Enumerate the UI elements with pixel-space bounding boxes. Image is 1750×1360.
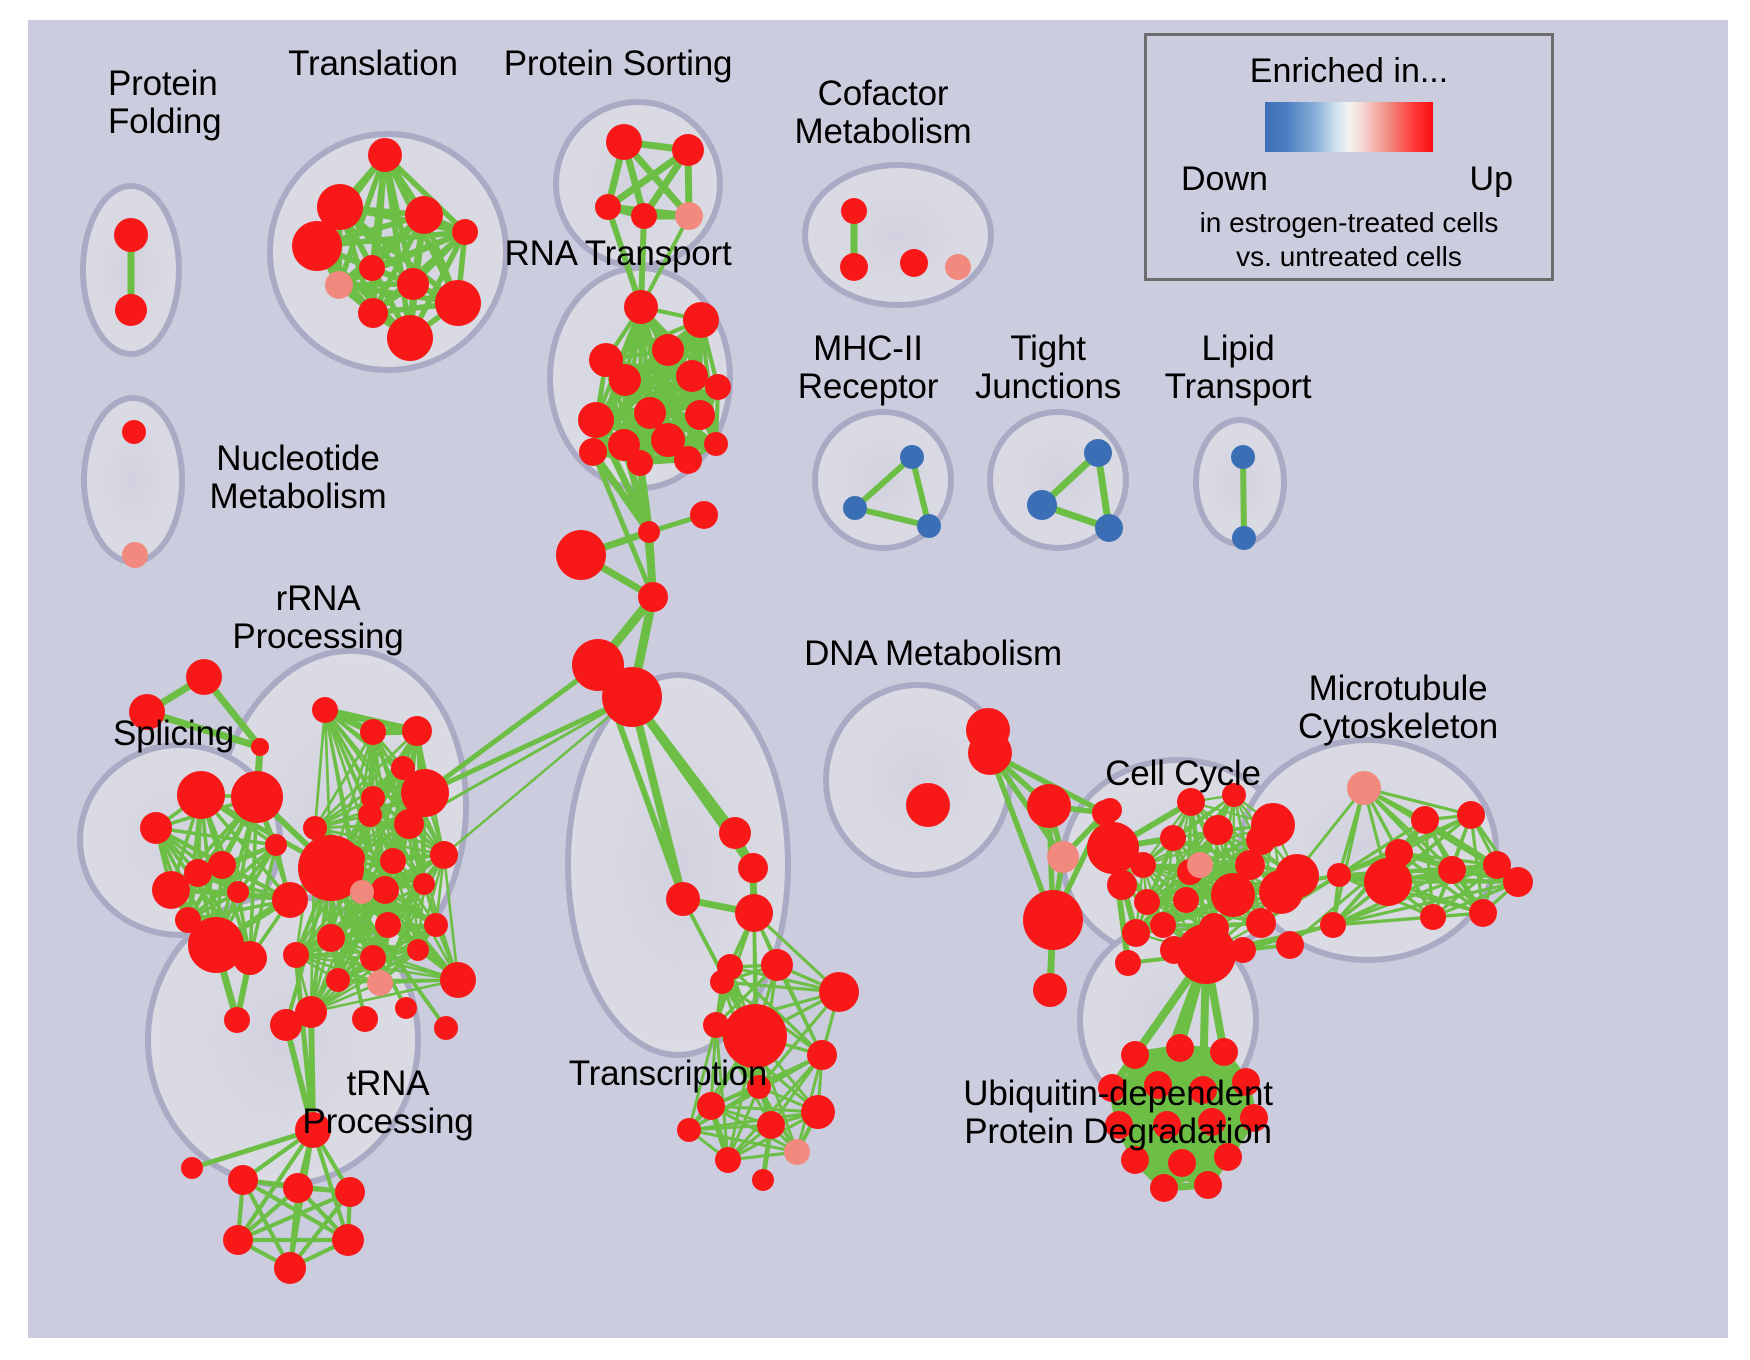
network-node[interactable] (666, 882, 700, 916)
network-node[interactable] (405, 196, 443, 234)
network-node[interactable] (917, 514, 941, 538)
network-node[interactable] (114, 218, 148, 252)
network-node[interactable] (843, 496, 867, 520)
network-node[interactable] (292, 221, 342, 271)
cluster-label-trna-processing: tRNA Processing (302, 1065, 473, 1141)
cluster-label-tight-junctions: Tight Junctions (975, 330, 1121, 406)
network-node[interactable] (1160, 825, 1186, 851)
network-node[interactable] (900, 249, 928, 277)
network-node[interactable] (1027, 490, 1057, 520)
network-node[interactable] (387, 315, 433, 361)
network-node[interactable] (1203, 815, 1233, 845)
network-node[interactable] (1327, 863, 1351, 887)
network-edge (1243, 457, 1244, 538)
network-node[interactable] (1347, 771, 1381, 805)
network-node[interactable] (627, 450, 653, 476)
network-node[interactable] (1168, 1149, 1196, 1177)
cluster-label-mhc-ii-receptor: MHC-II Receptor (798, 330, 938, 406)
cluster-label-translation: Translation (288, 45, 458, 83)
network-node[interactable] (424, 913, 448, 937)
cluster-label-ubiquitin-degradation: Ubiquitin-dependent Protein Degradation (963, 1075, 1273, 1151)
network-node[interactable] (638, 521, 660, 543)
network-node[interactable] (704, 432, 728, 456)
network-node[interactable] (715, 1147, 741, 1173)
cluster-label-rna-transport: RNA Transport (505, 235, 732, 273)
network-node[interactable] (945, 254, 971, 280)
network-node[interactable] (434, 1016, 458, 1040)
network-node[interactable] (1211, 873, 1255, 917)
network-node[interactable] (181, 1157, 203, 1179)
network-node[interactable] (578, 402, 614, 438)
legend-title: Enriched in... (1147, 52, 1551, 91)
network-node[interactable] (251, 738, 269, 756)
network-node[interactable] (1259, 870, 1303, 914)
legend-subtitle: in estrogen-treated cellsvs. untreated c… (1147, 206, 1551, 274)
network-node[interactable] (906, 783, 950, 827)
network-node[interactable] (840, 253, 868, 281)
network-node[interactable] (683, 302, 719, 338)
network-node[interactable] (1457, 801, 1485, 829)
network-node[interactable] (705, 374, 731, 400)
network-node[interactable] (274, 1252, 306, 1284)
network-node[interactable] (761, 949, 793, 981)
network-node[interactable] (1364, 858, 1412, 906)
network-node[interactable] (175, 907, 201, 933)
network-node[interactable] (674, 446, 702, 474)
network-node[interactable] (1150, 1174, 1178, 1202)
legend-down-label: Down (1181, 160, 1268, 199)
network-node[interactable] (270, 1009, 302, 1041)
network-node[interactable] (283, 1173, 313, 1203)
network-node[interactable] (624, 290, 658, 324)
network-node[interactable] (1160, 936, 1188, 964)
cluster-hull (805, 165, 991, 305)
cluster-label-nucleotide-metabolism: Nucleotide Metabolism (210, 440, 387, 516)
figure-root: Protein FoldingTranslationProtein Sortin… (0, 0, 1750, 1360)
network-node[interactable] (631, 203, 657, 229)
network-node[interactable] (1320, 912, 1346, 938)
cluster-label-protein-sorting: Protein Sorting (504, 45, 733, 83)
network-node[interactable] (395, 997, 417, 1019)
network-node[interactable] (801, 1095, 835, 1129)
network-node[interactable] (375, 912, 401, 938)
network-node[interactable] (676, 360, 708, 392)
network-node[interactable] (440, 962, 476, 998)
cluster-hull (1196, 420, 1284, 544)
network-node[interactable] (1107, 870, 1137, 900)
network-node[interactable] (223, 1225, 253, 1255)
network-node[interactable] (1023, 890, 1083, 950)
network-node[interactable] (1166, 1034, 1194, 1062)
network-node[interactable] (1150, 912, 1176, 938)
network-node[interactable] (177, 771, 225, 819)
network-node[interactable] (402, 716, 432, 746)
network-node[interactable] (452, 219, 478, 245)
legend-sub-line1: in estrogen-treated cells (1200, 207, 1499, 238)
network-node[interactable] (224, 1007, 250, 1033)
network-node[interactable] (1115, 950, 1141, 976)
network-node[interactable] (303, 816, 327, 840)
network-node[interactable] (332, 1224, 364, 1256)
network-node[interactable] (1276, 931, 1304, 959)
network-node[interactable] (634, 397, 666, 429)
network-node[interactable] (1232, 526, 1256, 550)
network-node[interactable] (1033, 973, 1067, 1007)
network-node[interactable] (609, 364, 641, 396)
network-node[interactable] (1095, 514, 1123, 542)
cluster-label-cell-cycle: Cell Cycle (1105, 755, 1261, 793)
network-node[interactable] (672, 134, 704, 166)
network-node[interactable] (735, 894, 773, 932)
network-node[interactable] (900, 445, 924, 469)
network-node[interactable] (115, 294, 147, 326)
network-node[interactable] (752, 1169, 774, 1191)
network-node[interactable] (1187, 852, 1213, 878)
network-node[interactable] (227, 881, 249, 903)
network-node[interactable] (122, 542, 148, 568)
network-node[interactable] (367, 970, 393, 996)
network-canvas: Protein FoldingTranslationProtein Sortin… (28, 20, 1728, 1338)
network-node[interactable] (1173, 887, 1199, 913)
network-node[interactable] (283, 942, 309, 968)
legend-color-gradient-bar (1265, 102, 1433, 152)
network-node[interactable] (350, 880, 374, 904)
network-node[interactable] (1047, 841, 1079, 873)
network-node[interactable] (1130, 852, 1156, 878)
network-node[interactable] (1210, 1038, 1238, 1066)
cluster-label-lipid-transport: Lipid Transport (1165, 330, 1312, 406)
network-node[interactable] (152, 871, 190, 909)
network-node[interactable] (265, 834, 287, 856)
network-node[interactable] (606, 124, 642, 160)
network-node[interactable] (1246, 825, 1276, 855)
network-node[interactable] (371, 876, 399, 904)
network-node[interactable] (841, 198, 867, 224)
network-node[interactable] (1134, 889, 1160, 915)
network-node[interactable] (719, 817, 751, 849)
network-node[interactable] (556, 530, 606, 580)
network-node[interactable] (1411, 806, 1439, 834)
network-node[interactable] (325, 271, 353, 299)
network-node[interactable] (359, 255, 385, 281)
network-node[interactable] (317, 924, 345, 952)
network-node[interactable] (272, 882, 308, 918)
network-node[interactable] (697, 1092, 725, 1120)
cluster-label-splicing: Splicing (113, 715, 234, 753)
network-node[interactable] (360, 945, 386, 971)
network-node[interactable] (1194, 1171, 1222, 1199)
cluster-label-protein-folding: Protein Folding (108, 65, 221, 141)
network-node[interactable] (380, 848, 406, 874)
cluster-label-dna-metabolism: DNA Metabolism (804, 635, 1062, 673)
network-node[interactable] (140, 812, 172, 844)
network-node[interactable] (339, 845, 365, 871)
network-node[interactable] (233, 941, 267, 975)
network-node[interactable] (757, 1111, 785, 1139)
network-node[interactable] (430, 841, 458, 869)
network-node[interactable] (394, 809, 424, 839)
network-node[interactable] (1230, 937, 1256, 963)
network-node[interactable] (690, 501, 718, 529)
network-node[interactable] (1420, 904, 1446, 930)
network-node[interactable] (1246, 908, 1276, 938)
network-node[interactable] (1122, 919, 1150, 947)
network-node[interactable] (352, 1006, 378, 1032)
network-node[interactable] (738, 853, 768, 883)
network-node[interactable] (1231, 445, 1255, 469)
network-node[interactable] (968, 731, 1012, 775)
network-node[interactable] (1438, 856, 1466, 884)
network-node[interactable] (1027, 784, 1071, 828)
network-node[interactable] (579, 438, 607, 466)
legend-sub-line2: vs. untreated cells (1236, 241, 1462, 272)
network-node[interactable] (228, 1165, 258, 1195)
network-node[interactable] (807, 1040, 837, 1070)
network-node[interactable] (186, 659, 222, 695)
network-node[interactable] (397, 268, 429, 300)
cluster-label-transcription: Transcription (569, 1055, 767, 1093)
network-node[interactable] (784, 1139, 810, 1165)
cluster-label-rrna-processing: rRNA Processing (232, 580, 403, 656)
legend-box: Enriched in... Down Up in estrogen-treat… (1144, 33, 1554, 281)
network-node[interactable] (819, 972, 859, 1012)
network-node[interactable] (685, 400, 715, 430)
network-node[interactable] (326, 968, 350, 992)
network-node[interactable] (1121, 1041, 1149, 1069)
cluster-label-cofactor-metabolism: Cofactor Metabolism (795, 75, 972, 151)
network-node[interactable] (368, 138, 402, 172)
network-node[interactable] (675, 202, 703, 230)
network-node[interactable] (1084, 439, 1112, 467)
network-node[interactable] (1469, 899, 1497, 927)
network-node[interactable] (413, 873, 435, 895)
network-node[interactable] (231, 771, 283, 823)
network-node[interactable] (677, 1118, 701, 1142)
cluster-label-microtubule-cytoskeleton: Microtubule Cytoskeleton (1298, 670, 1498, 746)
network-node[interactable] (208, 851, 236, 879)
network-node[interactable] (602, 667, 662, 727)
network-node[interactable] (652, 334, 684, 366)
network-node[interactable] (335, 1177, 365, 1207)
legend-up-label: Up (1470, 160, 1513, 199)
network-node[interactable] (358, 803, 382, 827)
network-node[interactable] (407, 939, 429, 961)
network-node[interactable] (435, 280, 481, 326)
network-node[interactable] (358, 298, 388, 328)
network-node[interactable] (638, 582, 668, 612)
network-node[interactable] (595, 194, 621, 220)
network-node[interactable] (312, 697, 338, 723)
network-node[interactable] (710, 970, 734, 994)
network-node[interactable] (360, 719, 386, 745)
network-node[interactable] (122, 420, 146, 444)
network-node[interactable] (1503, 867, 1533, 897)
